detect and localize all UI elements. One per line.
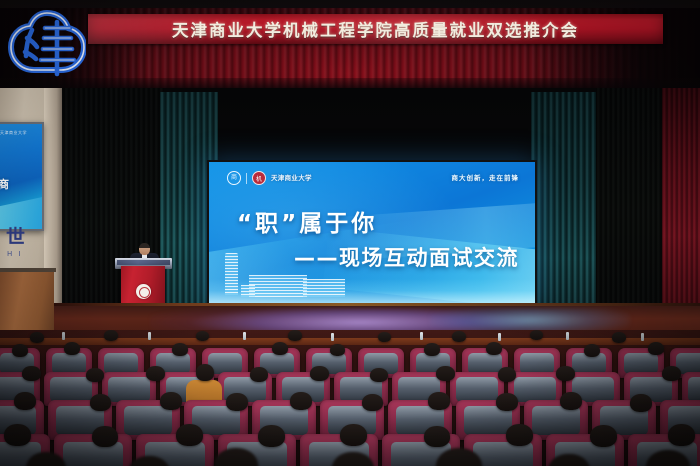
- university-seal-icon: 商: [227, 171, 241, 185]
- side-screen-body: 商: [0, 176, 9, 192]
- side-screen-header: 天津商业大学: [0, 130, 27, 136]
- campus-block-1: [249, 275, 307, 297]
- screen-logo-lockup: 商 机 天津商业大学: [227, 171, 312, 185]
- projection-screen: 商 机 天津商业大学 商大创新，走在前锋 “职”属于你 ——现场互动面试交流: [209, 162, 535, 305]
- campus-block-3: [241, 285, 255, 297]
- auditorium-photo: 天津商业大学机械工程学院高质量就业双选推介会 天津商业大学 商 世 H I: [0, 0, 700, 466]
- screen-title-line1: “职”属于你: [237, 204, 377, 238]
- campus-block-2: [303, 279, 345, 297]
- tianjin-cloud-watermark: 津: [8, 8, 86, 84]
- audience-vignette: [0, 330, 700, 466]
- stage-curtain-red-right: [662, 88, 700, 316]
- side-display-screen: 天津商业大学 商: [0, 122, 44, 231]
- screen-org-name: 天津商业大学: [271, 174, 312, 182]
- event-banner: 天津商业大学机械工程学院高质量就业双选推介会: [88, 14, 663, 44]
- stage-curtain-teal-right: [531, 92, 601, 314]
- event-banner-text: 天津商业大学机械工程学院高质量就业双选推介会: [172, 17, 579, 41]
- podium-nameplate: [117, 260, 170, 265]
- projection-screen-frame: 商 机 天津商业大学 商大创新，走在前锋 “职”属于你 ——现场互动面试交流: [207, 160, 537, 307]
- wall-character: 世: [6, 228, 25, 247]
- screen-title-line2: ——现场互动面试交流: [294, 242, 519, 272]
- screen-slogan: 商大创新，走在前锋: [452, 172, 520, 182]
- cloud-logo-icon: [8, 8, 86, 84]
- wall-subtext: H I: [7, 250, 23, 258]
- speaker-head: [139, 243, 150, 255]
- college-seal-icon: 机: [252, 171, 266, 185]
- audience-seating: [0, 330, 700, 466]
- podium-emblem-icon: [136, 284, 151, 299]
- logo-divider: [246, 173, 247, 184]
- campus-tower: [225, 253, 238, 295]
